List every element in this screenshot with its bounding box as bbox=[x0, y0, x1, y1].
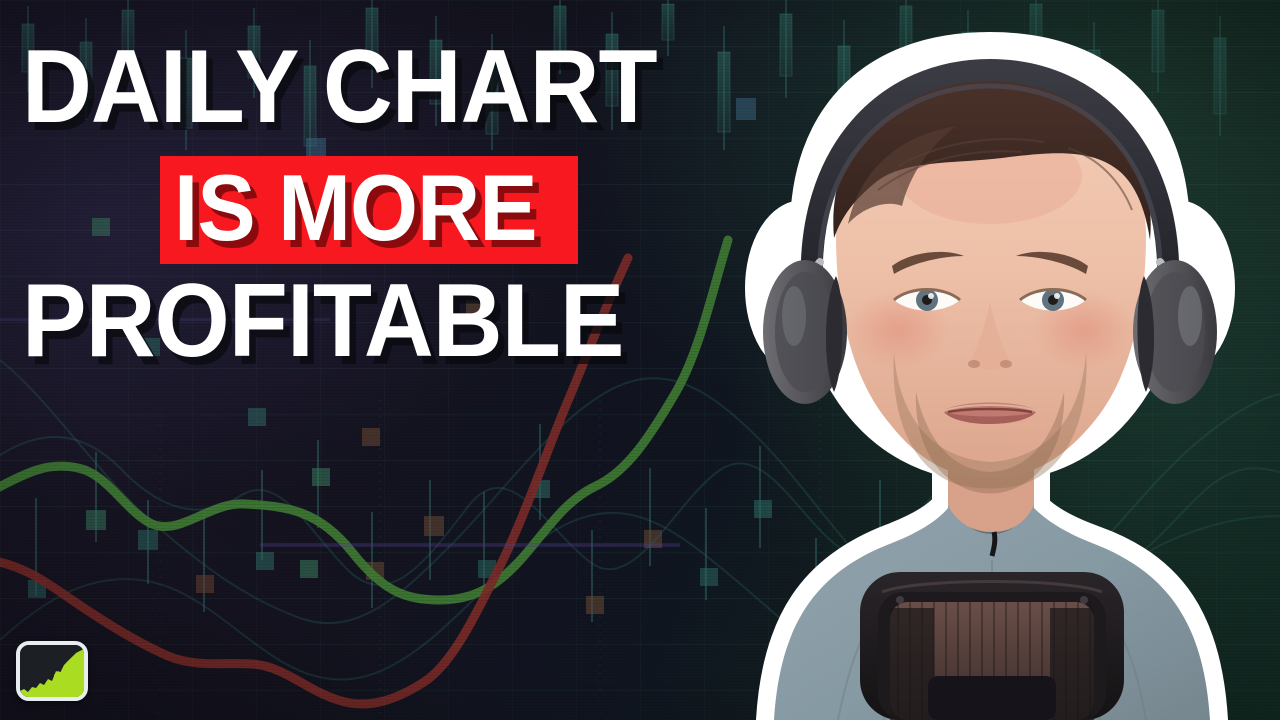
headline-line-3: PROFITABLE bbox=[22, 272, 729, 372]
brand-logo[interactable] bbox=[16, 641, 88, 701]
headline-block: DAILY CHART IS MORE PROFITABLE bbox=[22, 38, 782, 372]
thumbnail-canvas: DAILY CHART IS MORE PROFITABLE bbox=[0, 0, 1280, 720]
headline-highlight-box: IS MORE bbox=[160, 156, 578, 264]
headline-line-1: DAILY CHART bbox=[22, 38, 729, 138]
headline-line-2-highlight: IS MORE bbox=[174, 162, 537, 254]
